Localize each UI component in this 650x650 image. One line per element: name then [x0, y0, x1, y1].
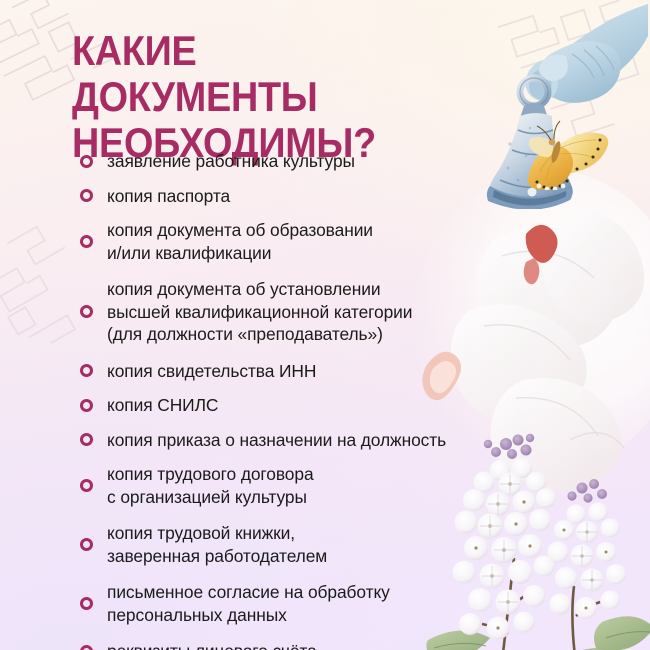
list-item-label: копия СНИЛС [107, 394, 218, 417]
bullet-circle-icon [80, 155, 93, 168]
list-item-label: копия приказа о назначении на должность [107, 429, 446, 452]
list-item-label: копия трудовой книжки, заверенная работо… [107, 522, 327, 567]
bullet-circle-icon [80, 597, 93, 610]
list-item: копия паспорта [80, 185, 560, 208]
bullet-circle-icon [80, 305, 93, 318]
list-item-label: копия трудового договора с организацией … [107, 463, 314, 508]
list-item: копия СНИЛС [80, 394, 560, 417]
list-item: заявление работника культуры [80, 150, 560, 173]
documents-list: заявление работника культуры копия паспо… [80, 150, 560, 650]
bullet-circle-icon [80, 433, 93, 446]
page-title: Какие документы необходимы? [72, 28, 450, 166]
list-item: копия свидетельства ИНН [80, 360, 560, 383]
bullet-circle-icon [80, 364, 93, 377]
list-item-label: письменное согласие на обработку персона… [107, 581, 390, 626]
bullet-circle-icon [80, 645, 93, 650]
bullet-circle-icon [80, 189, 93, 202]
list-item-label: копия документа об установлении высшей к… [107, 278, 412, 346]
list-item: реквизиты лицевого счёта [80, 640, 560, 650]
list-item-label: копия паспорта [107, 185, 230, 208]
bullet-circle-icon [80, 399, 93, 412]
list-item: письменное согласие на обработку персона… [80, 581, 560, 626]
list-item-label: копия документа об образовании и/или ква… [107, 219, 373, 264]
list-item: копия документа об установлении высшей к… [80, 278, 560, 346]
poster-canvas: Какие документы необходимы? заявление ра… [0, 0, 650, 650]
list-item: копия приказа о назначении на должность [80, 429, 560, 452]
list-item: копия документа об образовании и/или ква… [80, 219, 560, 264]
list-item-label: реквизиты лицевого счёта [107, 640, 317, 650]
bullet-circle-icon [80, 538, 93, 551]
list-item: копия трудового договора с организацией … [80, 463, 560, 508]
list-item-label: копия свидетельства ИНН [107, 360, 316, 383]
list-item-label: заявление работника культуры [107, 150, 355, 173]
bullet-circle-icon [80, 479, 93, 492]
list-item: копия трудовой книжки, заверенная работо… [80, 522, 560, 567]
bullet-circle-icon [80, 235, 93, 248]
